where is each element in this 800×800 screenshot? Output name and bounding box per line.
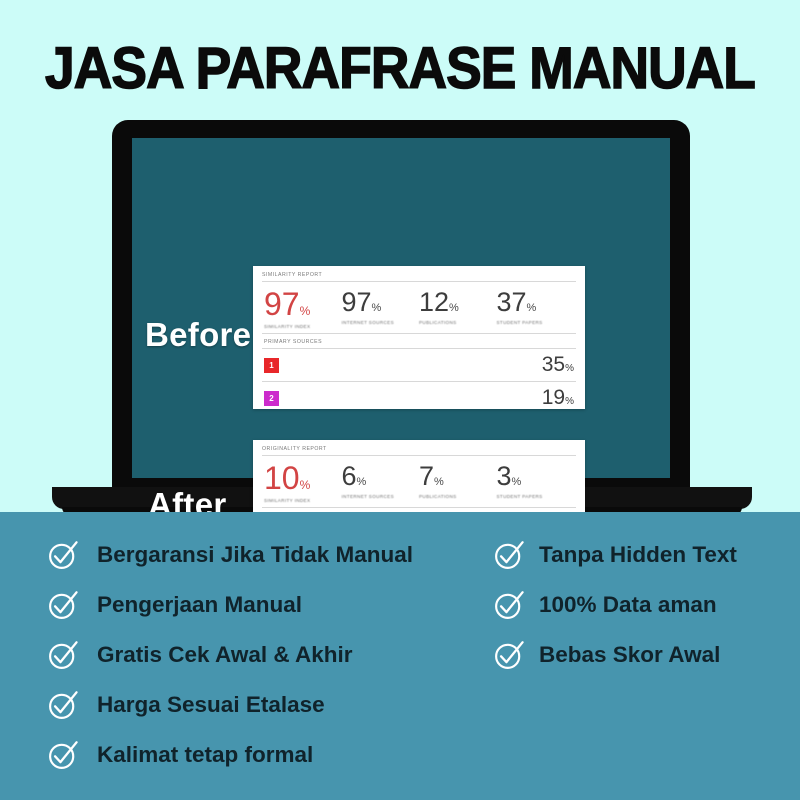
source-rank-badge: 2 [264, 391, 279, 406]
feature-item: Gratis Cek Awal & Akhir [46, 630, 413, 680]
score-value: 37 [497, 287, 527, 317]
score-value: 97 [264, 286, 300, 322]
score-student-papers: 3% STUDENT PAPERS [497, 463, 575, 503]
check-circle-icon [492, 639, 525, 672]
similarity-report-before: SIMILARITY REPORT 97% SIMILARITY INDEX 9… [253, 266, 585, 409]
score-row: 10% SIMILARITY INDEX 6% INTERNET SOURCES… [262, 456, 576, 507]
score-similarity-index: 10% SIMILARITY INDEX [264, 463, 342, 503]
score-pct: % [512, 476, 522, 488]
score-similarity-index: 97% SIMILARITY INDEX [264, 289, 342, 329]
check-circle-icon [46, 739, 79, 772]
features-band: Bergaransi Jika Tidak Manual Pengerjaan … [0, 512, 800, 800]
feature-label: Pengerjaan Manual [97, 592, 302, 618]
score-row: 97% SIMILARITY INDEX 97% INTERNET SOURCE… [262, 282, 576, 333]
feature-label: Gratis Cek Awal & Akhir [97, 642, 353, 668]
source-pct: % [565, 396, 574, 407]
score-pct: % [300, 478, 311, 492]
feature-item: Pengerjaan Manual [46, 580, 413, 630]
score-internet-sources: 97% INTERNET SOURCES [342, 289, 420, 329]
source-value: 35 [542, 353, 565, 376]
source-percent: 19% [542, 386, 574, 410]
score-publications: 7% PUBLICATIONS [419, 463, 497, 503]
score-pct: % [372, 302, 382, 314]
score-value: 6 [342, 461, 357, 491]
score-pct: % [300, 304, 311, 318]
source-percent: 35% [542, 353, 574, 377]
feature-item: Bergaransi Jika Tidak Manual [46, 530, 413, 580]
feature-label: Kalimat tetap formal [97, 742, 313, 768]
laptop-mockup: Before After SIMILARITY REPORT 97% SIMIL… [0, 120, 800, 520]
feature-label: Harga Sesuai Etalase [97, 692, 325, 718]
check-circle-icon [492, 589, 525, 622]
score-value: 7 [419, 461, 434, 491]
check-circle-icon [46, 639, 79, 672]
score-caption: SIMILARITY INDEX [264, 498, 342, 503]
score-value: 12 [419, 287, 449, 317]
source-value: 19 [542, 386, 565, 409]
score-pct: % [434, 476, 444, 488]
features-column-right: Tanpa Hidden Text 100% Data aman Bebas S… [492, 530, 737, 680]
features-column-left: Bergaransi Jika Tidak Manual Pengerjaan … [46, 530, 413, 780]
page-title: JASA PARAFRASE MANUAL [32, 38, 768, 100]
source-row: 2 19% [262, 382, 576, 414]
feature-label: Tanpa Hidden Text [539, 542, 737, 568]
score-pct: % [357, 476, 367, 488]
score-internet-sources: 6% INTERNET SOURCES [342, 463, 420, 503]
primary-sources-header: PRIMARY SOURCES [262, 334, 576, 348]
score-value: 3 [497, 461, 512, 491]
check-circle-icon [492, 539, 525, 572]
feature-label: Bebas Skor Awal [539, 642, 720, 668]
feature-item: 100% Data aman [492, 580, 737, 630]
score-pct: % [527, 302, 537, 314]
feature-item: Tanpa Hidden Text [492, 530, 737, 580]
report-header: SIMILARITY REPORT [262, 272, 576, 281]
score-value: 10 [264, 460, 300, 496]
score-caption: STUDENT PAPERS [497, 320, 575, 325]
source-row: 1 35% [262, 349, 576, 381]
feature-label: 100% Data aman [539, 592, 717, 618]
source-rank-badge: 1 [264, 358, 279, 373]
score-student-papers: 37% STUDENT PAPERS [497, 289, 575, 329]
check-circle-icon [46, 539, 79, 572]
score-caption: PUBLICATIONS [419, 494, 497, 499]
score-caption: INTERNET SOURCES [342, 494, 420, 499]
before-label: Before [145, 316, 251, 354]
feature-label: Bergaransi Jika Tidak Manual [97, 542, 413, 568]
feature-item: Harga Sesuai Etalase [46, 680, 413, 730]
feature-item: Kalimat tetap formal [46, 730, 413, 780]
score-caption: STUDENT PAPERS [497, 494, 575, 499]
score-publications: 12% PUBLICATIONS [419, 289, 497, 329]
score-caption: INTERNET SOURCES [342, 320, 420, 325]
score-caption: PUBLICATIONS [419, 320, 497, 325]
feature-item: Bebas Skor Awal [492, 630, 737, 680]
score-caption: SIMILARITY INDEX [264, 324, 342, 329]
score-value: 97 [342, 287, 372, 317]
check-circle-icon [46, 689, 79, 722]
report-header: ORIGINALITY REPORT [262, 446, 576, 455]
source-pct: % [565, 363, 574, 374]
score-pct: % [449, 302, 459, 314]
check-circle-icon [46, 589, 79, 622]
